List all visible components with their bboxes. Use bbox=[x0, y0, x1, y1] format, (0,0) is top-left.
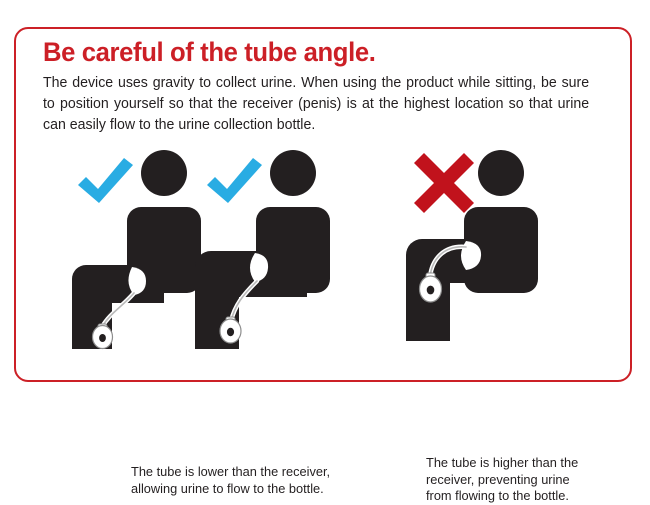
figure-incorrect bbox=[396, 141, 546, 351]
caption-left-line-2: allowing urine to flow to the bottle. bbox=[131, 481, 388, 498]
body-paragraph: The device uses gravity to collect urine… bbox=[43, 73, 589, 136]
figure-correct-1 bbox=[62, 141, 212, 351]
caption-right-line-1: The tube is higher than the bbox=[426, 455, 620, 472]
page-title: Be careful of the tube angle. bbox=[43, 37, 375, 68]
figure-correct-2 bbox=[191, 141, 341, 351]
check-icon bbox=[78, 158, 133, 203]
head-shape bbox=[270, 150, 316, 196]
head-shape bbox=[478, 150, 524, 196]
figure-group: The tube is lower than the receiver, all… bbox=[16, 141, 634, 381]
caption-left: The tube is lower than the receiver, all… bbox=[131, 464, 388, 497]
caption-right-line-2: receiver, preventing urine bbox=[426, 472, 620, 489]
caption-left-line-1: The tube is lower than the receiver, bbox=[131, 464, 388, 481]
body-paragraph-text: The device uses gravity to collect urine… bbox=[43, 73, 589, 136]
check-icon bbox=[207, 158, 262, 203]
seated-person-illustration-1 bbox=[62, 141, 212, 351]
seated-person-illustration-2 bbox=[191, 141, 341, 351]
seated-person-illustration-3 bbox=[396, 141, 546, 351]
caption-right-line-3: from flowing to the bottle. bbox=[426, 488, 620, 505]
head-shape bbox=[141, 150, 187, 196]
cross-icon bbox=[414, 153, 474, 213]
caption-right: The tube is higher than the receiver, pr… bbox=[426, 455, 620, 505]
warning-card: Be careful of the tube angle. The device… bbox=[14, 27, 632, 382]
